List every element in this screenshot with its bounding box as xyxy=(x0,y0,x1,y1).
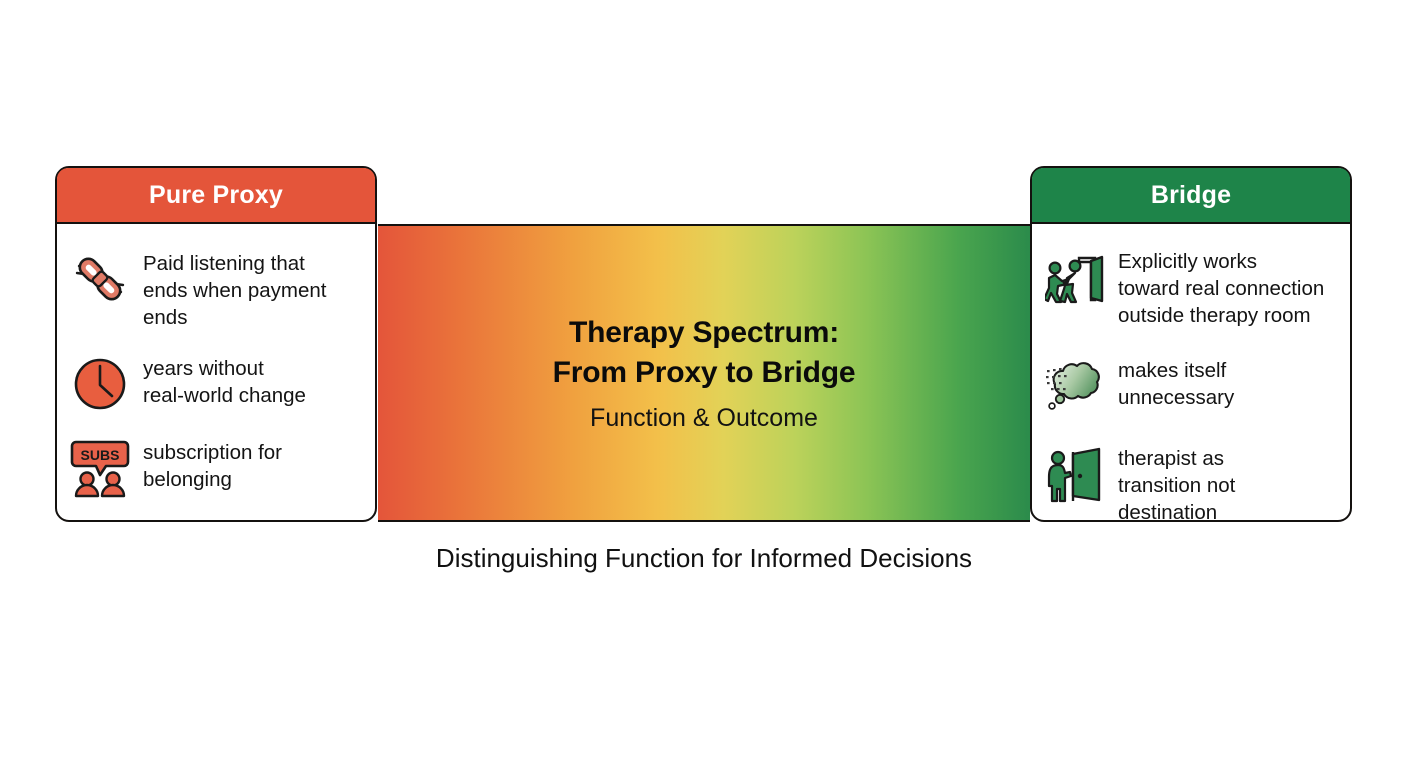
svg-text:SUBS: SUBS xyxy=(81,447,120,463)
list-item: SUBS subscription for belonging xyxy=(69,437,365,499)
list-item-label: Paid listening that ends when payment en… xyxy=(143,248,326,331)
dissolving-thought-cloud-icon xyxy=(1044,355,1106,417)
pure-proxy-card-header: Pure Proxy xyxy=(57,168,375,224)
bridge-header-label: Bridge xyxy=(1151,181,1231,210)
diagram-caption: Distinguishing Function for Informed Dec… xyxy=(0,543,1408,574)
spectrum-gradient-band: Therapy Spectrum: From Proxy to Bridge F… xyxy=(378,224,1030,522)
list-item-label: subscription for belonging xyxy=(143,437,282,493)
broken-chain-icon xyxy=(69,248,131,310)
list-item-label: therapist as transition not destination xyxy=(1118,443,1235,526)
list-item-label: makes itself unnecessary xyxy=(1118,355,1234,411)
bridge-card-header: Bridge xyxy=(1032,168,1350,224)
pure-proxy-card-body: Paid listening that ends when payment en… xyxy=(57,224,375,520)
pure-proxy-header-label: Pure Proxy xyxy=(149,181,283,210)
subscription-people-icon: SUBS xyxy=(69,437,131,499)
list-item: years without real-world change xyxy=(69,353,365,415)
list-item: Explicitly works toward real connection … xyxy=(1044,246,1340,329)
bridge-card-body: Explicitly works toward real connection … xyxy=(1032,224,1350,536)
list-item: Paid listening that ends when payment en… xyxy=(69,248,365,331)
spectrum-subtitle: Function & Outcome xyxy=(590,403,818,433)
pure-proxy-card: Pure Proxy xyxy=(55,166,377,522)
bridge-card: Bridge Explicit xyxy=(1030,166,1352,522)
list-item: therapist as transition not destination xyxy=(1044,443,1340,526)
spectrum-title: Therapy Spectrum: From Proxy to Bridge xyxy=(553,313,856,393)
therapy-spectrum-diagram: Therapy Spectrum: From Proxy to Bridge F… xyxy=(0,0,1408,768)
people-exiting-door-icon xyxy=(1044,246,1106,308)
clock-icon xyxy=(69,353,131,415)
list-item-label: years without real-world change xyxy=(143,353,306,409)
list-item-label: Explicitly works toward real connection … xyxy=(1118,246,1324,329)
person-at-open-door-icon xyxy=(1044,443,1106,505)
dissolving-thought-cloud-icon-row: makes itself unnecessary xyxy=(1044,355,1340,417)
